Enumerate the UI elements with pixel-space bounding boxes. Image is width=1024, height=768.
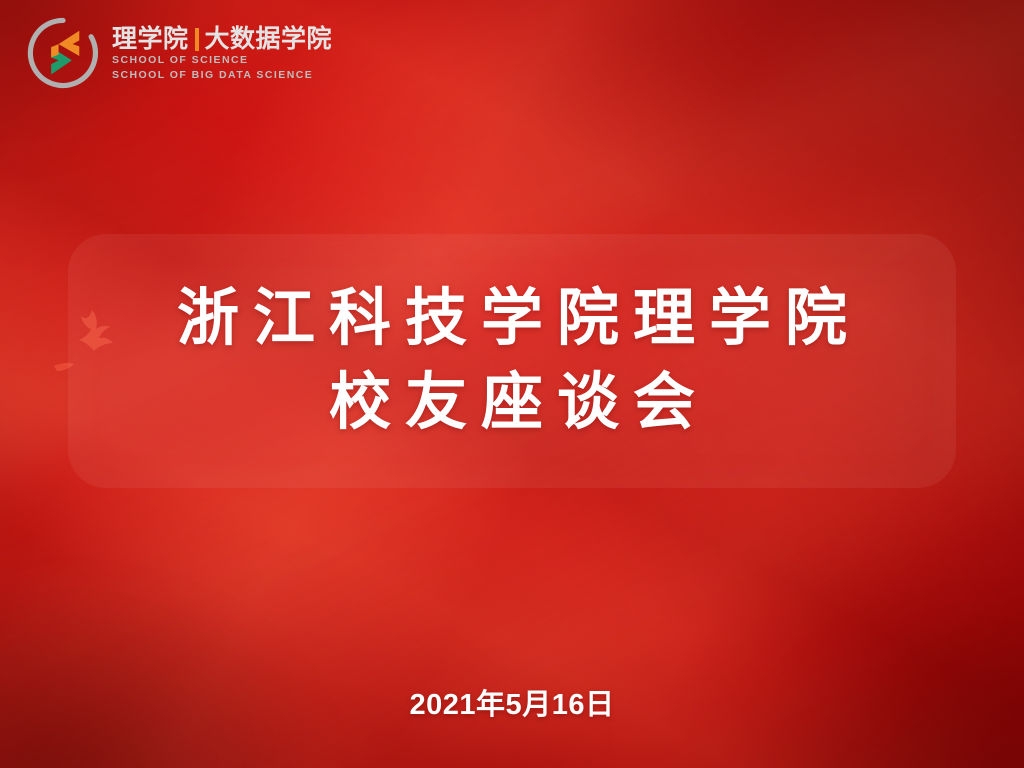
title-line-2: 校友座谈会 (315, 372, 709, 434)
slide-date: 2021年5月16日 (0, 681, 1024, 723)
title-line-1: 浙江科技学院理学院 (163, 288, 861, 350)
school-logo: 理学院 大数据学院 SCHOOL OF SCIENCE SCHOOL OF BI… (26, 16, 332, 90)
school-name-big-data: 大数据学院 (205, 26, 333, 53)
school-logo-mark (26, 16, 100, 90)
background-corner-shade-bottom-right (614, 492, 1024, 768)
school-logo-english-line1: SCHOOL OF SCIENCE (112, 53, 332, 68)
school-logo-english-line2: SCHOOL OF BIG DATA SCIENCE (112, 68, 332, 83)
presentation-slide: 理学院 大数据学院 SCHOOL OF SCIENCE SCHOOL OF BI… (0, 0, 1024, 768)
school-logo-chinese: 理学院 大数据学院 (112, 26, 332, 53)
logo-divider (195, 28, 199, 51)
school-logo-text: 理学院 大数据学院 SCHOOL OF SCIENCE SCHOOL OF BI… (112, 23, 332, 83)
title-block: 浙江科技学院理学院 校友座谈会 (68, 234, 956, 488)
school-name-science: 理学院 (112, 26, 189, 53)
